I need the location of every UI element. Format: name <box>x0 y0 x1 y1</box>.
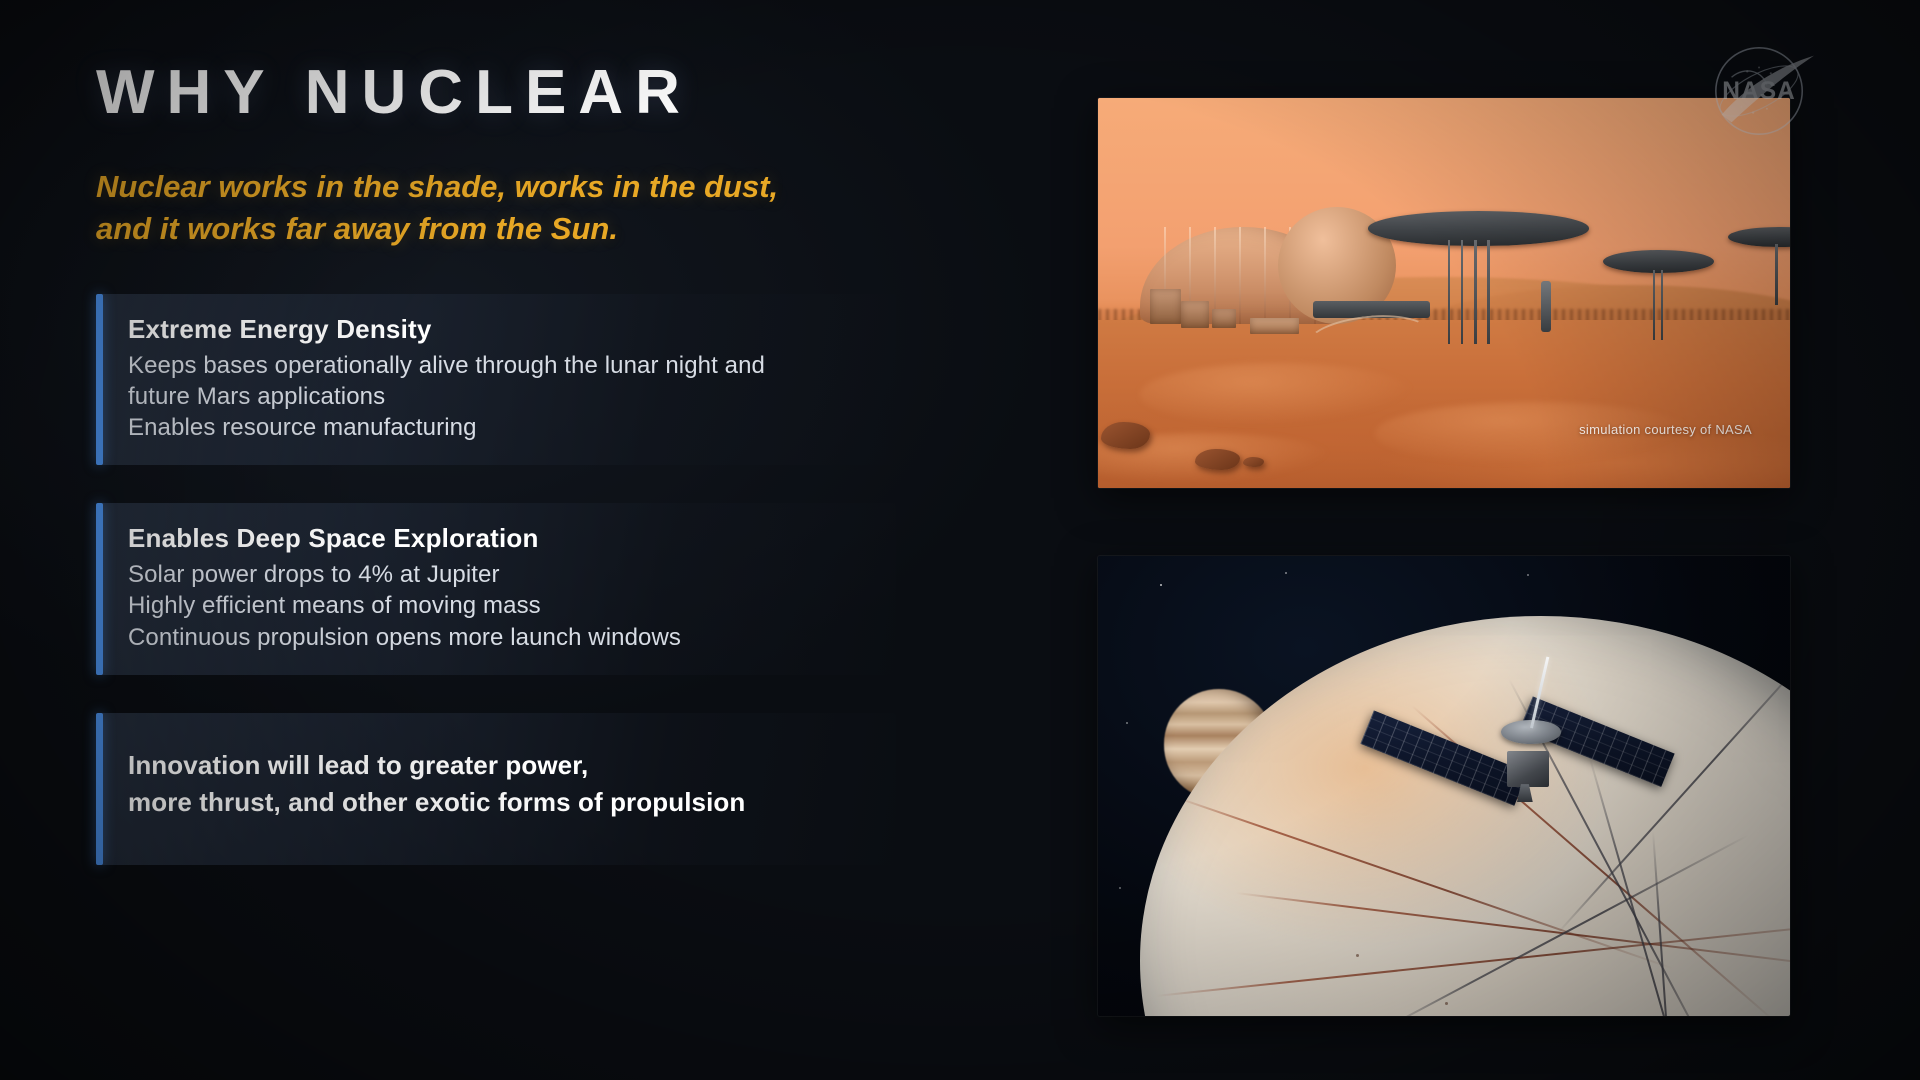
mars-power-array <box>1603 250 1714 340</box>
solar-array-lower <box>1360 710 1527 806</box>
benefit-card-innovation: Innovation will lead to greater power, m… <box>96 713 896 865</box>
card-title: Enables Deep Space Exploration <box>128 523 862 554</box>
card-line: Solar power drops to 4% at Jupiter <box>128 559 862 590</box>
mars-rock <box>1101 422 1149 449</box>
mars-module <box>1181 301 1209 328</box>
benefit-card-list: Extreme Energy Density Keeps bases opera… <box>96 294 916 865</box>
mars-dune <box>1140 363 1417 425</box>
mars-rock <box>1195 449 1240 470</box>
mars-base-image: simulation courtesy of NASA <box>1098 98 1790 488</box>
slide-subtitle: Nuclear works in the shade, works in the… <box>96 166 916 250</box>
card-line: future Mars applications <box>128 381 862 412</box>
mars-module <box>1250 318 1298 334</box>
benefit-card-deep-space: Enables Deep Space Exploration Solar pow… <box>96 503 896 675</box>
card-line: more thrust, and other exotic forms of p… <box>128 784 862 821</box>
spacecraft-bus <box>1507 751 1548 787</box>
mars-module <box>1212 309 1236 329</box>
card-line: Keeps bases operationally alive through … <box>128 350 862 381</box>
presentation-slide: WHY NUCLEAR Nuclear works in the shade, … <box>0 0 1920 1080</box>
card-line: Continuous propulsion opens more launch … <box>128 622 862 653</box>
mars-module <box>1150 289 1181 324</box>
benefit-card-energy-density: Extreme Energy Density Keeps bases opera… <box>96 294 896 466</box>
image-caption: simulation courtesy of NASA <box>1579 422 1752 437</box>
mars-power-array <box>1728 227 1790 305</box>
slide-left-column: WHY NUCLEAR Nuclear works in the shade, … <box>96 62 916 903</box>
card-title: Extreme Energy Density <box>128 314 862 345</box>
mars-rock <box>1243 457 1264 467</box>
europa-clipper-spacecraft <box>1361 685 1679 851</box>
card-line: Enables resource manufacturing <box>128 412 862 443</box>
europa-clipper-image <box>1098 556 1790 1016</box>
subtitle-line-2: and it works far away from the Sun. <box>96 208 916 250</box>
mars-mast <box>1541 281 1551 332</box>
card-line: Innovation will lead to greater power, <box>128 747 862 784</box>
card-line: Highly efficient means of moving mass <box>128 590 862 621</box>
page-title: WHY NUCLEAR <box>96 62 916 124</box>
subtitle-line-1: Nuclear works in the shade, works in the… <box>96 166 916 208</box>
